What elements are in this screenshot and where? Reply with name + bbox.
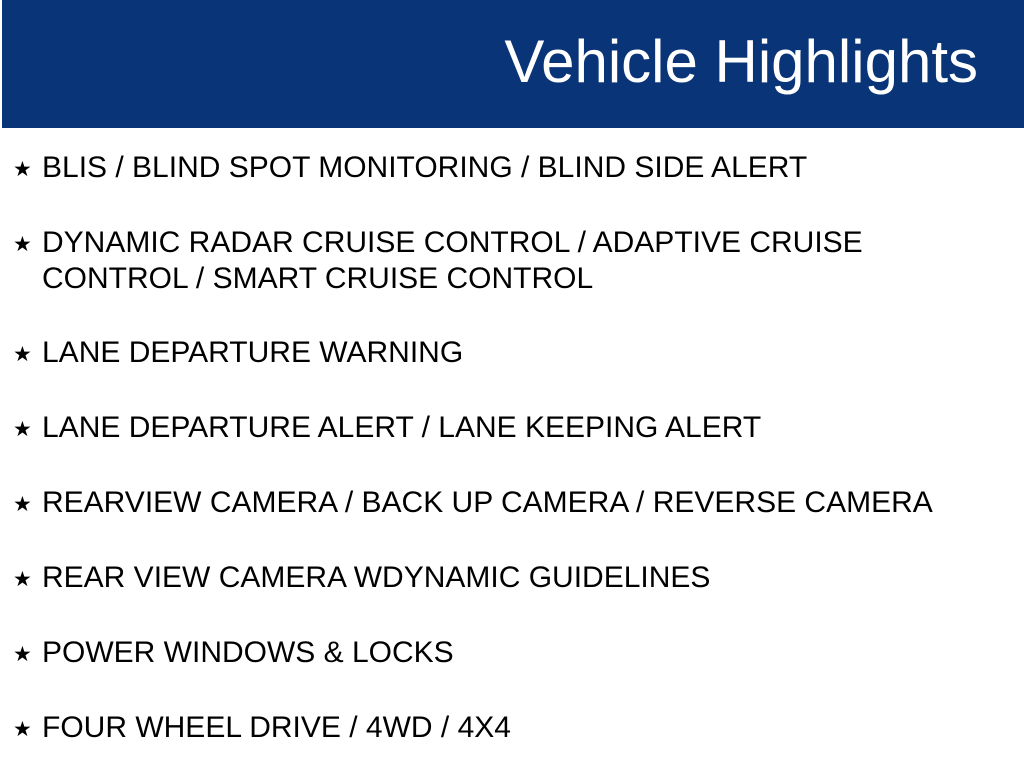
list-item-label: LANE DEPARTURE WARNING: [42, 313, 942, 371]
star-bullet-icon: ★: [13, 538, 42, 594]
list-item-label: POWER WINDOWS & LOCKS: [42, 613, 942, 671]
list-item-label: BLIS / BLIND SPOT MONITORING / BLIND SID…: [42, 128, 942, 186]
star-bullet-icon: ★: [13, 613, 42, 669]
list-item-label: REAR VIEW CAMERA WDYNAMIC GUIDELINES: [42, 538, 942, 596]
star-bullet-icon: ★: [13, 128, 42, 184]
list-item: ★ FOUR WHEEL DRIVE / 4WD / 4X4: [0, 688, 1024, 763]
list-item-label: LANE DEPARTURE ALERT / LANE KEEPING ALER…: [42, 388, 942, 446]
list-item: ★ REARVIEW CAMERA / BACK UP CAMERA / REV…: [0, 463, 1024, 538]
vehicle-highlights-slide: Vehicle Highlights ★ BLIS / BLIND SPOT M…: [0, 0, 1024, 768]
list-item-label: REARVIEW CAMERA / BACK UP CAMERA / REVER…: [42, 463, 942, 521]
list-item: ★ REAR VIEW CAMERA WDYNAMIC GUIDELINES: [0, 538, 1024, 613]
header-banner: Vehicle Highlights: [2, 0, 1024, 128]
list-item: ★ POWER WINDOWS & LOCKS: [0, 613, 1024, 688]
list-item: ★ LANE DEPARTURE WARNING: [0, 313, 1024, 388]
list-item: ★ LANE DEPARTURE ALERT / LANE KEEPING AL…: [0, 388, 1024, 463]
page-title: Vehicle Highlights: [504, 32, 978, 92]
star-bullet-icon: ★: [13, 688, 42, 744]
star-bullet-icon: ★: [13, 463, 42, 519]
star-bullet-icon: ★: [13, 388, 42, 444]
list-item-label: DYNAMIC RADAR CRUISE CONTROL / ADAPTIVE …: [42, 203, 942, 297]
star-bullet-icon: ★: [13, 203, 42, 259]
star-bullet-icon: ★: [13, 313, 42, 369]
vehicle-highlights-list: ★ BLIS / BLIND SPOT MONITORING / BLIND S…: [0, 128, 1024, 763]
list-item: ★ DYNAMIC RADAR CRUISE CONTROL / ADAPTIV…: [0, 203, 1024, 313]
list-item-label: FOUR WHEEL DRIVE / 4WD / 4X4: [42, 688, 942, 746]
list-item: ★ BLIS / BLIND SPOT MONITORING / BLIND S…: [0, 128, 1024, 203]
